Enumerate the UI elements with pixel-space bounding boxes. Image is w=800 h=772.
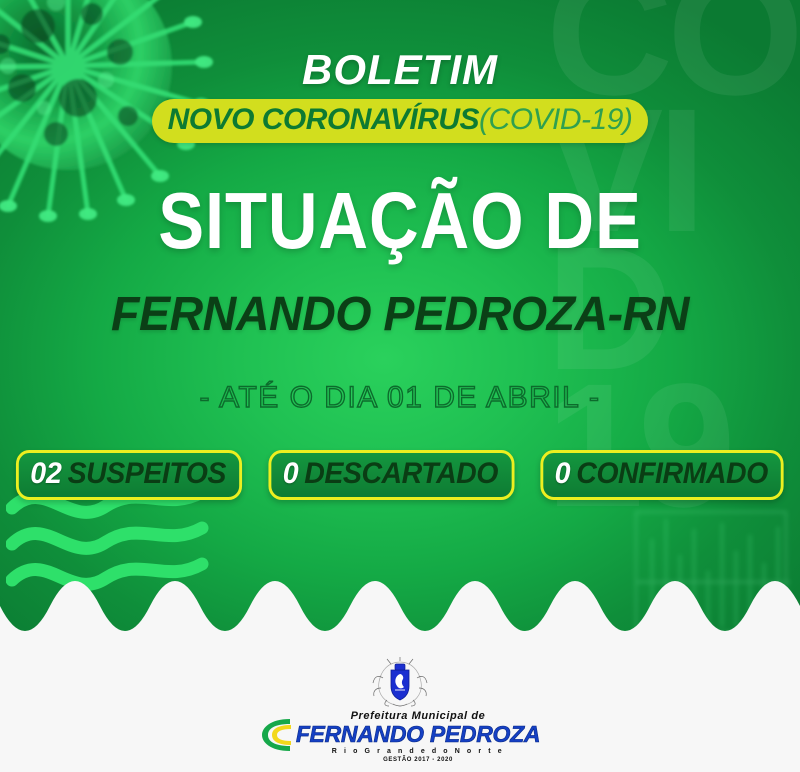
stat-count-confirmado: 0 bbox=[555, 458, 571, 490]
stat-badge-descartado: 0 DESCARTADO bbox=[268, 450, 514, 500]
subtitle-light-text: (COVID-19) bbox=[479, 103, 632, 136]
flag-swoosh-icon bbox=[260, 716, 294, 759]
logo-state-label: R i o G r a n d e d o N o r t e bbox=[332, 748, 504, 755]
poster-content: BOLETIM NOVO CORONAVÍRUS(COVID-19) SITUA… bbox=[0, 0, 800, 690]
municipal-coat-of-arms-icon bbox=[369, 656, 431, 713]
stat-label-descartado: DESCARTADO bbox=[304, 458, 498, 490]
stat-count-descartado: 0 bbox=[282, 458, 298, 490]
statistics-row: 02 SUSPEITOS 0 DESCARTADO 0 CONFIRMADO bbox=[0, 450, 800, 500]
subtitle-row: NOVO CORONAVÍRUS(COVID-19) bbox=[0, 99, 800, 143]
covid-bulletin-poster: CO VI D 19 bbox=[0, 0, 800, 772]
logo-text-block: Prefeitura Municipal de FERNANDO PEDROZA… bbox=[296, 711, 540, 763]
poster-header-title: BOLETIM bbox=[0, 46, 800, 94]
city-title: FERNANDO PEDROZA-RN bbox=[12, 287, 788, 342]
logo-city-name: FERNANDO PEDROZA bbox=[296, 723, 540, 746]
prefeitura-logo: Prefeitura Municipal de FERNANDO PEDROZA… bbox=[260, 711, 540, 763]
date-line: - ATÉ O DIA 01 DE ABRIL - bbox=[0, 381, 800, 415]
subtitle-strong-text: NOVO CORONAVÍRUS bbox=[168, 103, 479, 136]
main-title: SITUAÇÃO DE bbox=[56, 175, 744, 267]
stat-count-suspeitos: 02 bbox=[30, 458, 62, 490]
stat-badge-suspeitos: 02 SUSPEITOS bbox=[15, 450, 241, 500]
logo-gestao-label: GESTÃO 2017 - 2020 bbox=[383, 757, 453, 763]
stat-label-confirmado: CONFIRMADO bbox=[576, 458, 768, 490]
footer-logo-area: Prefeitura Municipal de FERNANDO PEDROZA… bbox=[0, 652, 800, 772]
subtitle-pill: NOVO CORONAVÍRUS(COVID-19) bbox=[152, 99, 649, 143]
stat-badge-confirmado: 0 CONFIRMADO bbox=[541, 450, 785, 500]
stat-label-suspeitos: SUSPEITOS bbox=[67, 458, 225, 490]
